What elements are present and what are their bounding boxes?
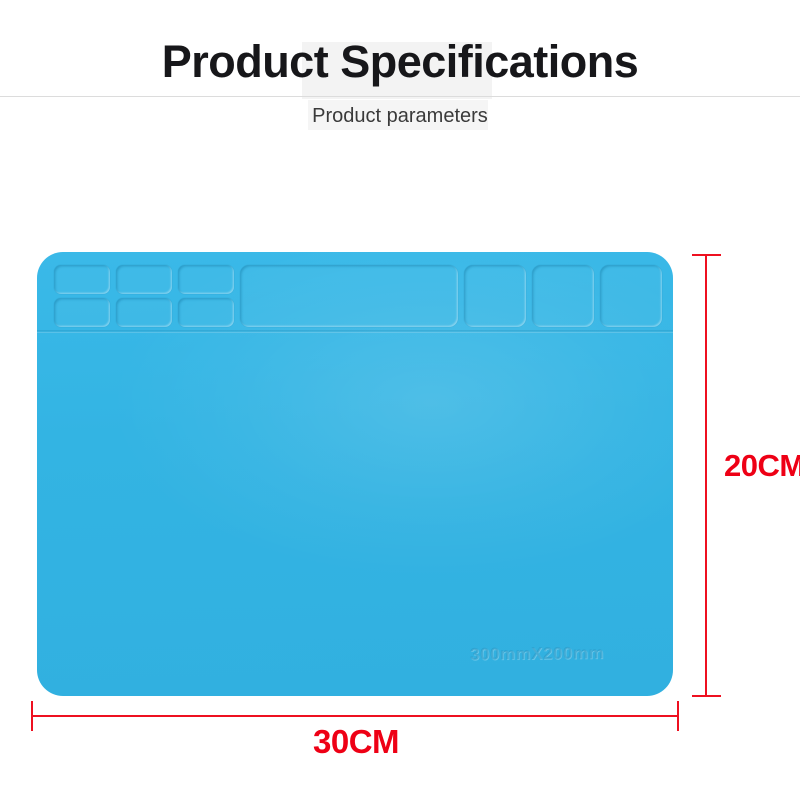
height-dimension-cap-bottom xyxy=(692,695,721,697)
silicone-mat xyxy=(37,252,673,696)
header: Product Specifications Product parameter… xyxy=(0,0,800,140)
header-divider xyxy=(0,96,800,97)
pocket-9 xyxy=(600,265,662,327)
page-subtitle: Product parameters xyxy=(0,103,800,129)
pocket-2 xyxy=(116,265,172,294)
compartment-strip xyxy=(37,252,673,331)
height-dimension-line xyxy=(705,254,707,697)
pocket-5 xyxy=(116,298,172,327)
strip-groove xyxy=(37,330,673,333)
pocket-8 xyxy=(532,265,594,327)
width-dimension-label: 30CM xyxy=(0,722,712,762)
pocket-6 xyxy=(178,298,234,327)
pocket-1 xyxy=(54,265,110,294)
height-dimension-label: 20CM xyxy=(724,448,800,484)
pocket-large-center xyxy=(240,265,458,327)
pocket-7 xyxy=(464,265,526,327)
pocket-3 xyxy=(178,265,234,294)
page-title: Product Specifications xyxy=(0,36,800,88)
pocket-4 xyxy=(54,298,110,327)
embossed-size-text: 300mmX200mm xyxy=(470,643,604,664)
width-dimension-line xyxy=(31,715,679,717)
product-specification-image: Product Specifications Product parameter… xyxy=(0,0,800,800)
